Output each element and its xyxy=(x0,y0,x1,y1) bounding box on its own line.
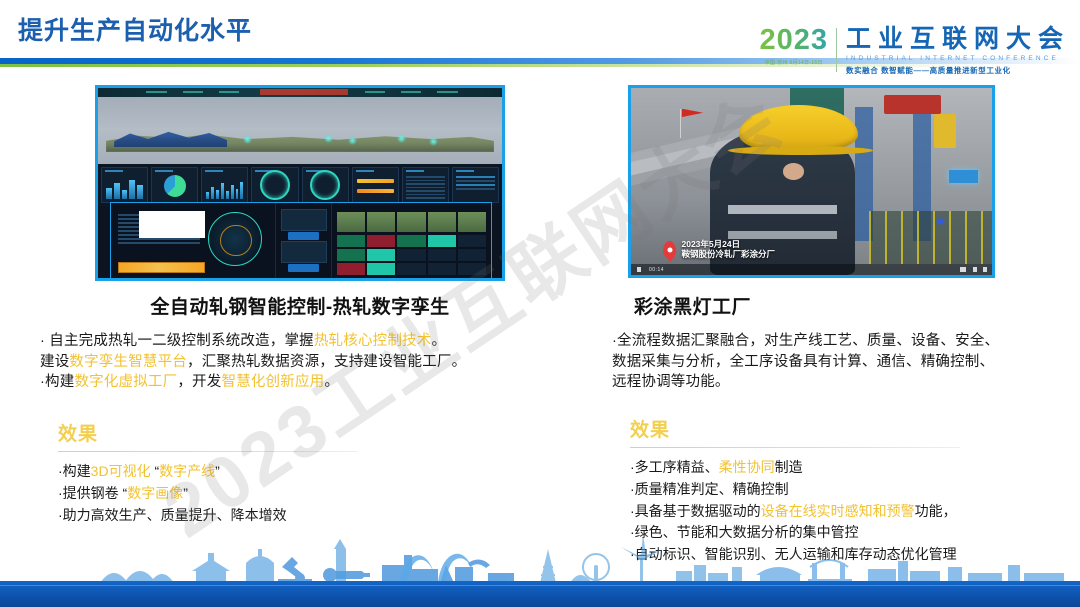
terrain-blue-layer xyxy=(114,128,227,148)
right-effect-rule xyxy=(630,447,960,449)
highlighted-text: 热轧核心控制技术 xyxy=(314,333,432,349)
text-line: 远程协调等功能。 xyxy=(612,372,1064,393)
photo-flag-pole xyxy=(680,109,681,139)
right-media-frame[interactable]: 2023年5月24日 鞍钢股份冷轧厂彩涂分厂 00:14 xyxy=(628,85,995,278)
photo-worker-ear xyxy=(783,163,805,180)
left-content-column: 全自动轧钢智能控制-热轧数字孪生 · 自主完成热轧一二级控制系统改造，掌握热轧核… xyxy=(40,292,560,526)
detail-right-pane xyxy=(332,203,491,278)
plain-text: 建设 xyxy=(40,354,69,370)
text-line: ·绿色、节能和大数据分析的集中管控 xyxy=(630,522,1064,544)
text-line: ·提供钢卷 “数字画像” xyxy=(58,483,560,505)
kpi-gauge-right xyxy=(302,167,349,203)
detail-radar-gauge xyxy=(208,212,262,266)
location-pin-icon xyxy=(663,241,676,258)
highlighted-text: 智慧化创新应用 xyxy=(221,374,324,390)
logo-tagline: 数实融合 数智赋能——高质量推进新型工业化 xyxy=(846,65,1070,76)
conference-logo: 2023 中国·苏州 9月14日-16日 工业互联网大会 INDUSTRIAL … xyxy=(759,26,1070,76)
highlighted-text: 3D可视化 xyxy=(91,463,151,479)
plain-text: ·构建 xyxy=(40,374,74,390)
photo-control-screen xyxy=(949,170,978,183)
plain-text: 。 xyxy=(431,333,446,349)
plain-text: 远程协调等功能。 xyxy=(612,374,730,390)
plain-text: ·助力高效生产、质量提升、降本增效 xyxy=(58,507,287,523)
photo-red-equipment xyxy=(884,95,942,114)
dashboard-kpi-row xyxy=(98,164,502,206)
plain-text: · 自主完成热轧一二级控制系统改造，掌握 xyxy=(40,333,314,349)
text-line: ·多工序精益、柔性协同制造 xyxy=(630,457,1064,479)
dashboard-topbar xyxy=(98,88,502,97)
text-line: ·全流程数据汇聚融合，对生产线工艺、质量、设备、安全、 xyxy=(612,331,1064,352)
logo-english-name: INDUSTRIAL INTERNET CONFERENCE xyxy=(846,55,1070,62)
plain-text: ·构建 xyxy=(58,463,91,479)
kpi-bar-chart xyxy=(101,167,148,203)
photo-yellow-railing xyxy=(869,211,992,263)
text-line: · 自主完成热轧一二级控制系统改造，掌握热轧核心控制技术。 xyxy=(40,331,560,352)
slide-root: 提升生产自动化水平 2023 中国·苏州 9月14日-16日 工业互联网大会 I… xyxy=(0,0,1080,607)
video-caption: 2023年5月24日 鞍钢股份冷轧厂彩涂分厂 xyxy=(663,239,775,260)
plain-text: ·多工序精益、 xyxy=(630,459,719,475)
left-effect-rule xyxy=(58,451,358,453)
right-effect-heading: 效果 xyxy=(630,415,1064,442)
plain-text: ·自动标识、智能识别、无人运输和库存动态优化管理 xyxy=(630,546,957,562)
highlighted-text: 数字化虚拟工厂 xyxy=(74,374,177,390)
text-line: ·具备基于数据驱动的设备在线实时感知和预警功能， xyxy=(630,501,1064,523)
kpi-trend-chart xyxy=(201,167,248,203)
plain-text: 。 xyxy=(324,374,339,390)
plain-text: ·提供钢卷 “ xyxy=(58,485,127,501)
text-line: ·助力高效生产、质量提升、降本增效 xyxy=(58,505,560,527)
logo-main-block: 工业互联网大会 INDUSTRIAL INTERNET CONFERENCE 数… xyxy=(846,26,1070,76)
highlighted-text: 数字画像 xyxy=(127,485,183,501)
left-body-text: · 自主完成热轧一二级控制系统改造，掌握热轧核心控制技术。建设数字孪生智慧平台，… xyxy=(40,331,560,393)
right-effect-block: 效果 ·多工序精益、柔性协同制造·质量精准判定、精确控制·具备基于数据驱动的设备… xyxy=(612,415,1064,566)
plain-text: “ xyxy=(151,463,160,479)
photo-indicator-light xyxy=(938,219,943,224)
highlighted-text: 设备在线实时感知和预警 xyxy=(761,503,915,519)
detail-left-pane xyxy=(111,203,276,278)
logo-year-text: 2023 xyxy=(759,26,828,55)
dashboard-topbar-title xyxy=(260,89,349,95)
plain-text: ·质量精准判定、精确控制 xyxy=(630,481,789,497)
settings-icon[interactable] xyxy=(973,267,977,272)
logo-chinese-name: 工业互联网大会 xyxy=(846,26,1070,52)
dashboard-3d-scene xyxy=(98,88,502,164)
highlighted-text: 数字产线 xyxy=(159,463,215,479)
left-card-title: 全自动轧钢智能控制-热轧数字孪生 xyxy=(40,292,560,319)
text-line: 数据采集与分析，全工序设备具有计算、通信、精确控制、 xyxy=(612,352,1064,373)
video-caption-location: 鞍钢股份冷轧厂彩涂分厂 xyxy=(681,249,775,260)
detail-popup-window xyxy=(139,211,205,238)
video-control-bar[interactable]: 00:14 xyxy=(631,264,992,275)
photo-yellow-equipment xyxy=(934,114,956,148)
logo-separator xyxy=(836,28,837,72)
left-effect-list: ·构建3D可视化 “数字产线”·提供钢卷 “数字画像”·助力高效生产、质量提升、… xyxy=(58,461,560,526)
kpi-gauge-left xyxy=(251,167,298,203)
detail-orange-strip xyxy=(118,262,205,273)
plain-text: ·具备基于数据驱动的 xyxy=(630,503,761,519)
text-line: ·构建3D可视化 “数字产线” xyxy=(58,461,560,483)
left-media-frame[interactable] xyxy=(95,85,505,281)
footer-blue-band xyxy=(0,581,1080,607)
left-effect-block: 效果 ·构建3D可视化 “数字产线”·提供钢卷 “数字画像”·助力高效生产、质量… xyxy=(40,419,560,527)
text-line: ·构建数字化虚拟工厂，开发智慧化创新应用。 xyxy=(40,372,560,393)
plain-text: ，开发 xyxy=(177,374,221,390)
plain-text: ·全流程数据汇聚融合，对生产线工艺、质量、设备、安全、 xyxy=(612,333,999,349)
plain-text: 数据采集与分析，全工序设备具有计算、通信、精确控制、 xyxy=(612,354,994,370)
logo-place-text: 中国·苏州 9月14日-16日 xyxy=(765,59,823,66)
plain-text: ，汇聚热轧数据资源，支持建设智能工厂。 xyxy=(187,354,466,370)
plain-text: ·绿色、节能和大数据分析的集中管控 xyxy=(630,524,859,540)
fullscreen-icon[interactable] xyxy=(983,267,987,272)
dashboard-detail-view xyxy=(110,202,492,278)
logo-year-block: 2023 中国·苏州 9月14日-16日 xyxy=(759,26,836,66)
color-coating-dark-factory-video: 2023年5月24日 鞍钢股份冷轧厂彩涂分厂 00:14 xyxy=(631,88,992,275)
highlighted-text: 柔性协同 xyxy=(719,459,775,475)
kpi-progress-bars xyxy=(352,167,399,203)
plain-text: 功能， xyxy=(915,503,957,519)
left-effect-heading: 效果 xyxy=(58,419,560,446)
text-line: ·质量精准判定、精确控制 xyxy=(630,479,1064,501)
video-time-code: 00:14 xyxy=(649,267,664,273)
right-content-column: 彩涂黑灯工厂 ·全流程数据汇聚融合，对生产线工艺、质量、设备、安全、数据采集与分… xyxy=(612,292,1064,566)
plain-text: ” xyxy=(183,485,188,501)
video-caption-date: 2023年5月24日 xyxy=(681,239,775,250)
text-line: ·自动标识、智能识别、无人运输和库存动态优化管理 xyxy=(630,544,1064,566)
volume-icon[interactable] xyxy=(960,267,966,272)
kpi-donut-chart xyxy=(151,167,198,203)
plain-text: 制造 xyxy=(775,459,803,475)
kpi-data-table xyxy=(402,167,449,203)
detail-middle-pane xyxy=(276,203,332,278)
page-title: 提升生产自动化水平 xyxy=(18,11,252,47)
kpi-line-chart xyxy=(452,167,499,203)
highlighted-text: 数字孪生智慧平台 xyxy=(69,354,187,370)
right-body-text: ·全流程数据汇聚融合，对生产线工艺、质量、设备、安全、数据采集与分析，全工序设备… xyxy=(612,331,1064,393)
plain-text: ” xyxy=(215,463,220,479)
right-effect-list: ·多工序精益、柔性协同制造·质量精准判定、精确控制·具备基于数据驱动的设备在线实… xyxy=(630,457,1064,565)
right-card-title: 彩涂黑灯工厂 xyxy=(612,292,1064,319)
hot-rolling-digital-twin-dashboard xyxy=(98,88,502,278)
text-line: 建设数字孪生智慧平台，汇聚热轧数据资源，支持建设智能工厂。 xyxy=(40,352,560,373)
pause-icon[interactable] xyxy=(637,267,641,272)
